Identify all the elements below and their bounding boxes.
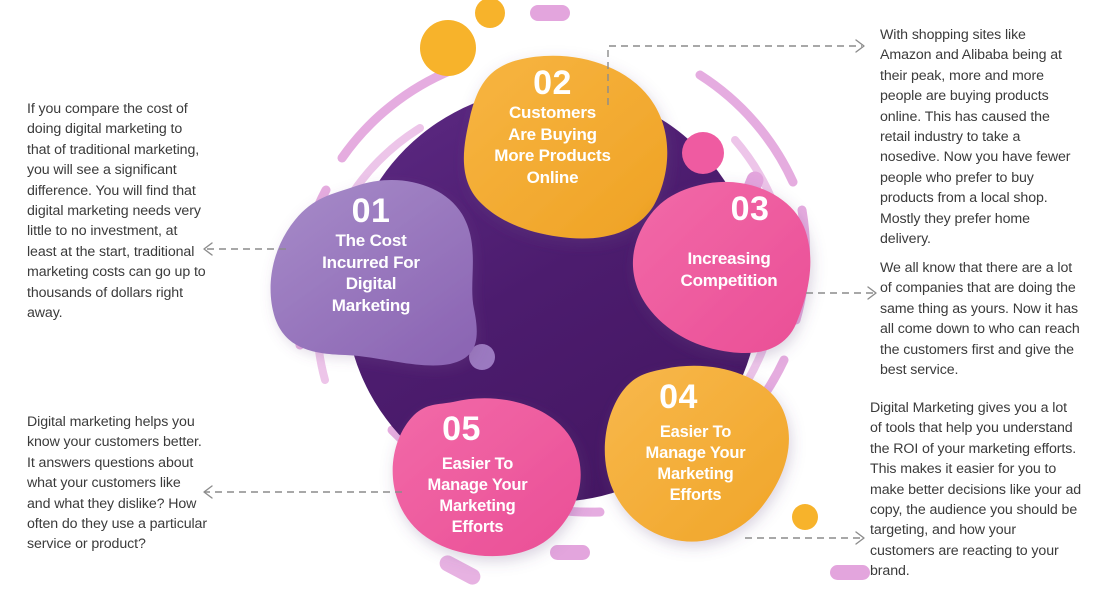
infographic-canvas: 01 The Cost Incurred For Digital Marketi… <box>0 0 1100 600</box>
description-02: With shopping sites like Amazon and Alib… <box>880 25 1080 249</box>
orange-dot-bottom-right <box>792 504 818 530</box>
description-03: We all know that there are a lot of comp… <box>880 258 1085 380</box>
description-01: If you compare the cost of doing digital… <box>27 99 207 323</box>
pink-pill-top-right <box>530 5 570 21</box>
arrowhead-02 <box>856 40 864 52</box>
pink-dot-right <box>682 132 724 174</box>
blob-shape-05[interactable] <box>393 398 581 556</box>
description-04: Digital Marketing gives you a lot of too… <box>870 398 1082 582</box>
pink-pill-bottomleft-slant <box>437 553 483 588</box>
blob-shape-04[interactable] <box>605 366 789 542</box>
blob-shape-02[interactable] <box>464 56 667 239</box>
orange-dot-top-small <box>475 0 505 28</box>
description-05: Digital marketing helps you know your cu… <box>27 412 207 555</box>
pink-pill-bottom-center <box>550 545 590 560</box>
blob-shape-01[interactable] <box>271 180 477 365</box>
pink-pill-bottom-right <box>830 565 870 580</box>
orange-dot-top-large <box>420 20 476 76</box>
